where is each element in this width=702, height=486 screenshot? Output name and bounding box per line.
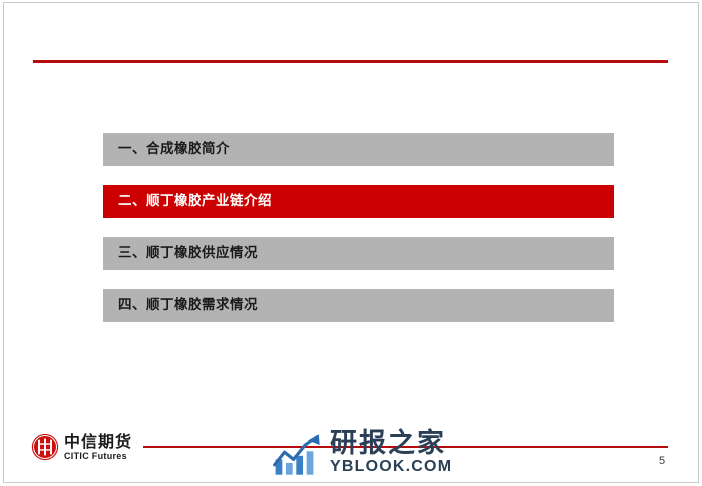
citic-circle-icon <box>31 433 59 461</box>
watermark-title-en: YBLOOK.COM <box>330 459 452 475</box>
page-number: 5 <box>650 455 674 467</box>
bar-chart-arrow-icon <box>272 431 326 477</box>
agenda-item-3[interactable]: 三、顺丁橡胶供应情况 <box>103 237 614 270</box>
slide-canvas: 一、合成橡胶简介 二、顺丁橡胶产业链介绍 三、顺丁橡胶供应情况 四、顺丁橡胶需求… <box>0 0 702 486</box>
logo-name-en: CITIC Futures <box>64 452 132 461</box>
logo-name-cn: 中信期货 <box>64 434 132 450</box>
agenda-item-label: 二、顺丁橡胶产业链介绍 <box>103 195 272 209</box>
agenda-item-1[interactable]: 一、合成橡胶简介 <box>103 133 614 166</box>
watermark-title-cn: 研报之家 <box>330 430 452 457</box>
agenda-list: 一、合成橡胶简介 二、顺丁橡胶产业链介绍 三、顺丁橡胶供应情况 四、顺丁橡胶需求… <box>103 133 614 341</box>
top-accent-rule <box>33 60 668 63</box>
agenda-item-4[interactable]: 四、顺丁橡胶需求情况 <box>103 289 614 322</box>
logo-wordmark: 中信期货 CITIC Futures <box>64 434 132 461</box>
agenda-item-label: 一、合成橡胶简介 <box>103 143 230 157</box>
agenda-item-label: 四、顺丁橡胶需求情况 <box>103 299 258 313</box>
agenda-item-2[interactable]: 二、顺丁橡胶产业链介绍 <box>103 185 614 218</box>
watermark-text: 研报之家 YBLOOK.COM <box>330 430 452 477</box>
watermark: 研报之家 YBLOOK.COM <box>272 423 452 477</box>
citic-futures-logo: 中信期货 CITIC Futures <box>31 428 132 466</box>
agenda-item-label: 三、顺丁橡胶供应情况 <box>103 247 258 261</box>
